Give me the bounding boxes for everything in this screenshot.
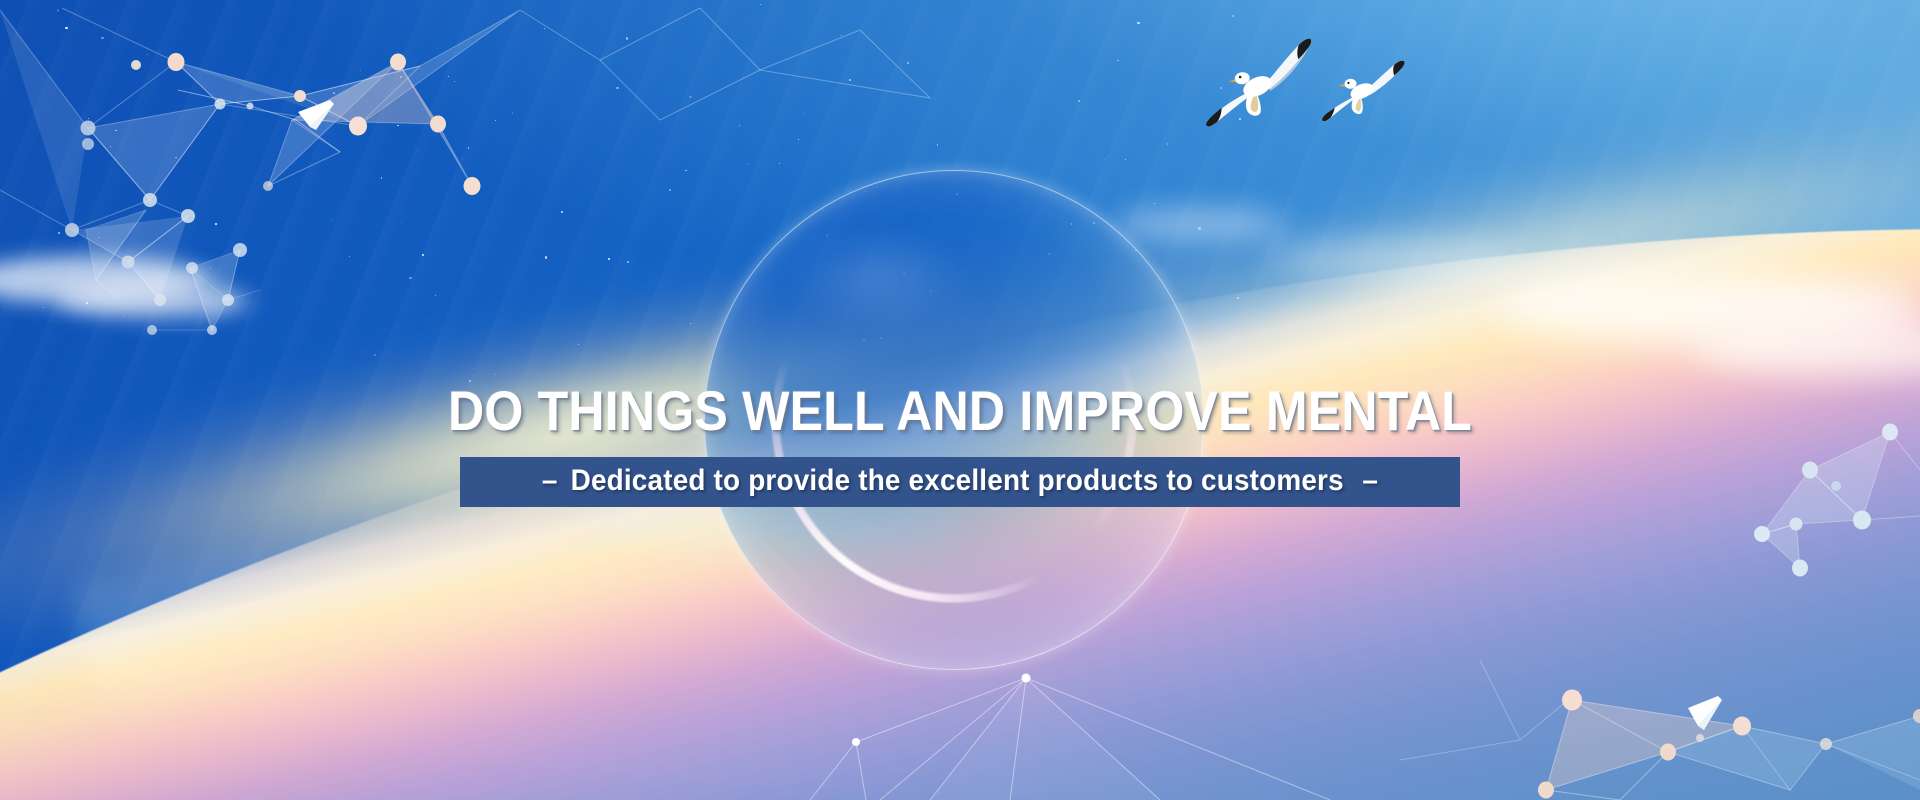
seagull-large <box>1194 31 1328 135</box>
subtitle: –Dedicated to provide the excellent prod… <box>519 463 1401 499</box>
banner-copy: DO THINGS WELL AND IMPROVE MENTAL –Dedic… <box>0 382 1920 507</box>
subtitle-bar: –Dedicated to provide the excellent prod… <box>460 457 1460 507</box>
subtitle-dash-left: – <box>529 464 571 497</box>
subtitle-text: Dedicated to provide the excellent produ… <box>571 464 1344 497</box>
headline: DO THINGS WELL AND IMPROVE MENTAL <box>101 382 1819 440</box>
seagull-small <box>1316 56 1416 131</box>
hero-banner: DO THINGS WELL AND IMPROVE MENTAL –Dedic… <box>0 0 1920 800</box>
subtitle-dash-right: – <box>1344 464 1391 497</box>
